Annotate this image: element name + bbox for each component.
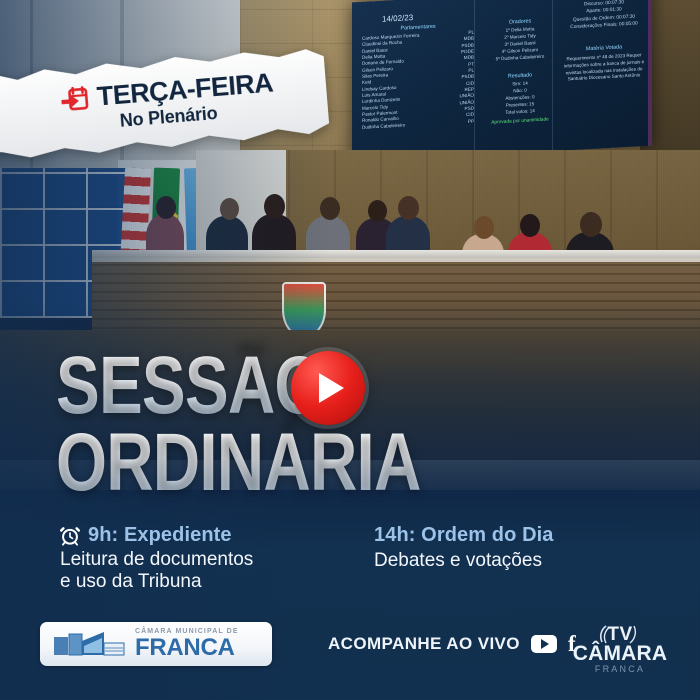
footer: CÂMARA MUNICIPAL DE FRANCA ACOMPANHE AO … [0,618,700,678]
banner-weekday-text: TERÇA-FEIRA [96,69,274,110]
calendar-arrow-icon [59,85,89,113]
tv-logo-franca: FRANCA [572,665,668,674]
camara-building-icon [52,629,126,659]
schedule-section: 9h: Expediente Leitura de documentos e u… [60,524,660,594]
tv-logo-tv: TV [607,624,632,645]
alarm-clock-icon [60,525,80,546]
camara-municipal-logo[interactable]: CÂMARA MUNICIPAL DE FRANCA [40,622,272,666]
schedule-desc-expediente-line2: e uso da Tribuna [60,571,338,593]
live-section: ACOMPANHE AO VIVO f [328,632,576,655]
schedule-item-ordem-do-dia: 14h: Ordem do Dia Debates e votações [374,524,652,594]
schedule-desc-ordem-do-dia: Debates e votações [374,550,652,572]
schedule-desc-expediente-line1: Leitura de documentos [60,549,338,571]
title-line-2: ORDINÁRIA [56,429,536,496]
schedule-time-expediente: 9h: Expediente [88,524,232,547]
tv-logo-camara: CÂMARA [572,643,668,664]
social-media-announcement-card: 14:15:00 14/02/23 Parlamentares Cardoso … [0,0,700,700]
tv-camara-logo: TV CÂMARA FRANCA [572,622,668,670]
schedule-time-ordem-do-dia: 14h: Ordem do Dia [374,524,554,547]
play-button-icon[interactable] [291,351,365,425]
schedule-item-expediente: 9h: Expediente Leitura de documentos e u… [60,524,338,594]
live-label: ACOMPANHE AO VIVO [328,634,520,654]
youtube-icon[interactable] [531,635,557,653]
logo-name: FRANCA [135,636,239,660]
